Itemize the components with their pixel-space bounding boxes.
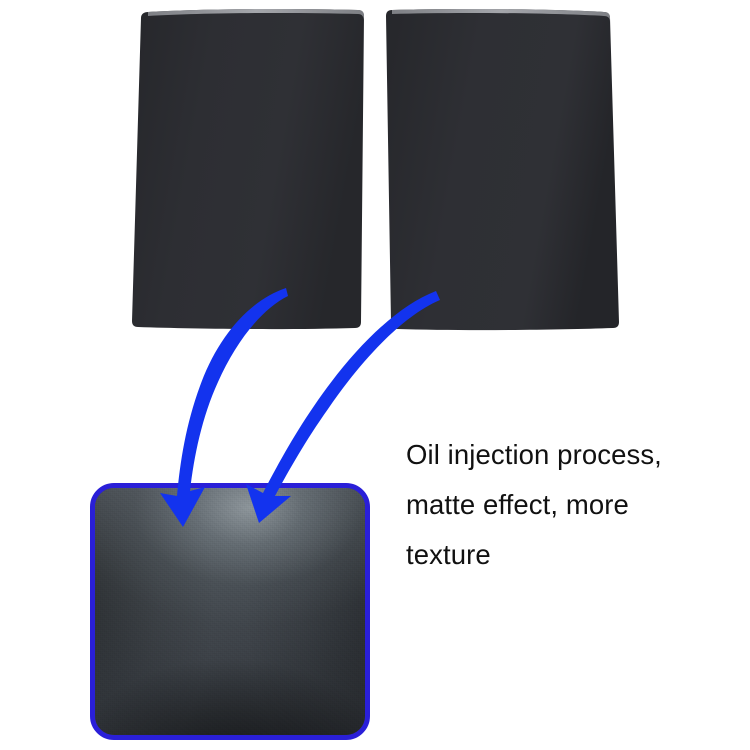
closeup-grain-texture: [90, 483, 370, 740]
product-image-scene: Oil injection process, matte effect, mor…: [0, 0, 750, 750]
caption-line-2: matte effect, more: [406, 480, 746, 530]
right-panel: [386, 9, 619, 330]
left-panel: [132, 9, 364, 329]
caption-line-1: Oil injection process,: [406, 430, 746, 480]
caption-text: Oil injection process, matte effect, mor…: [406, 430, 746, 580]
closeup-swatch: [90, 483, 370, 740]
caption-line-3: texture: [406, 530, 746, 580]
